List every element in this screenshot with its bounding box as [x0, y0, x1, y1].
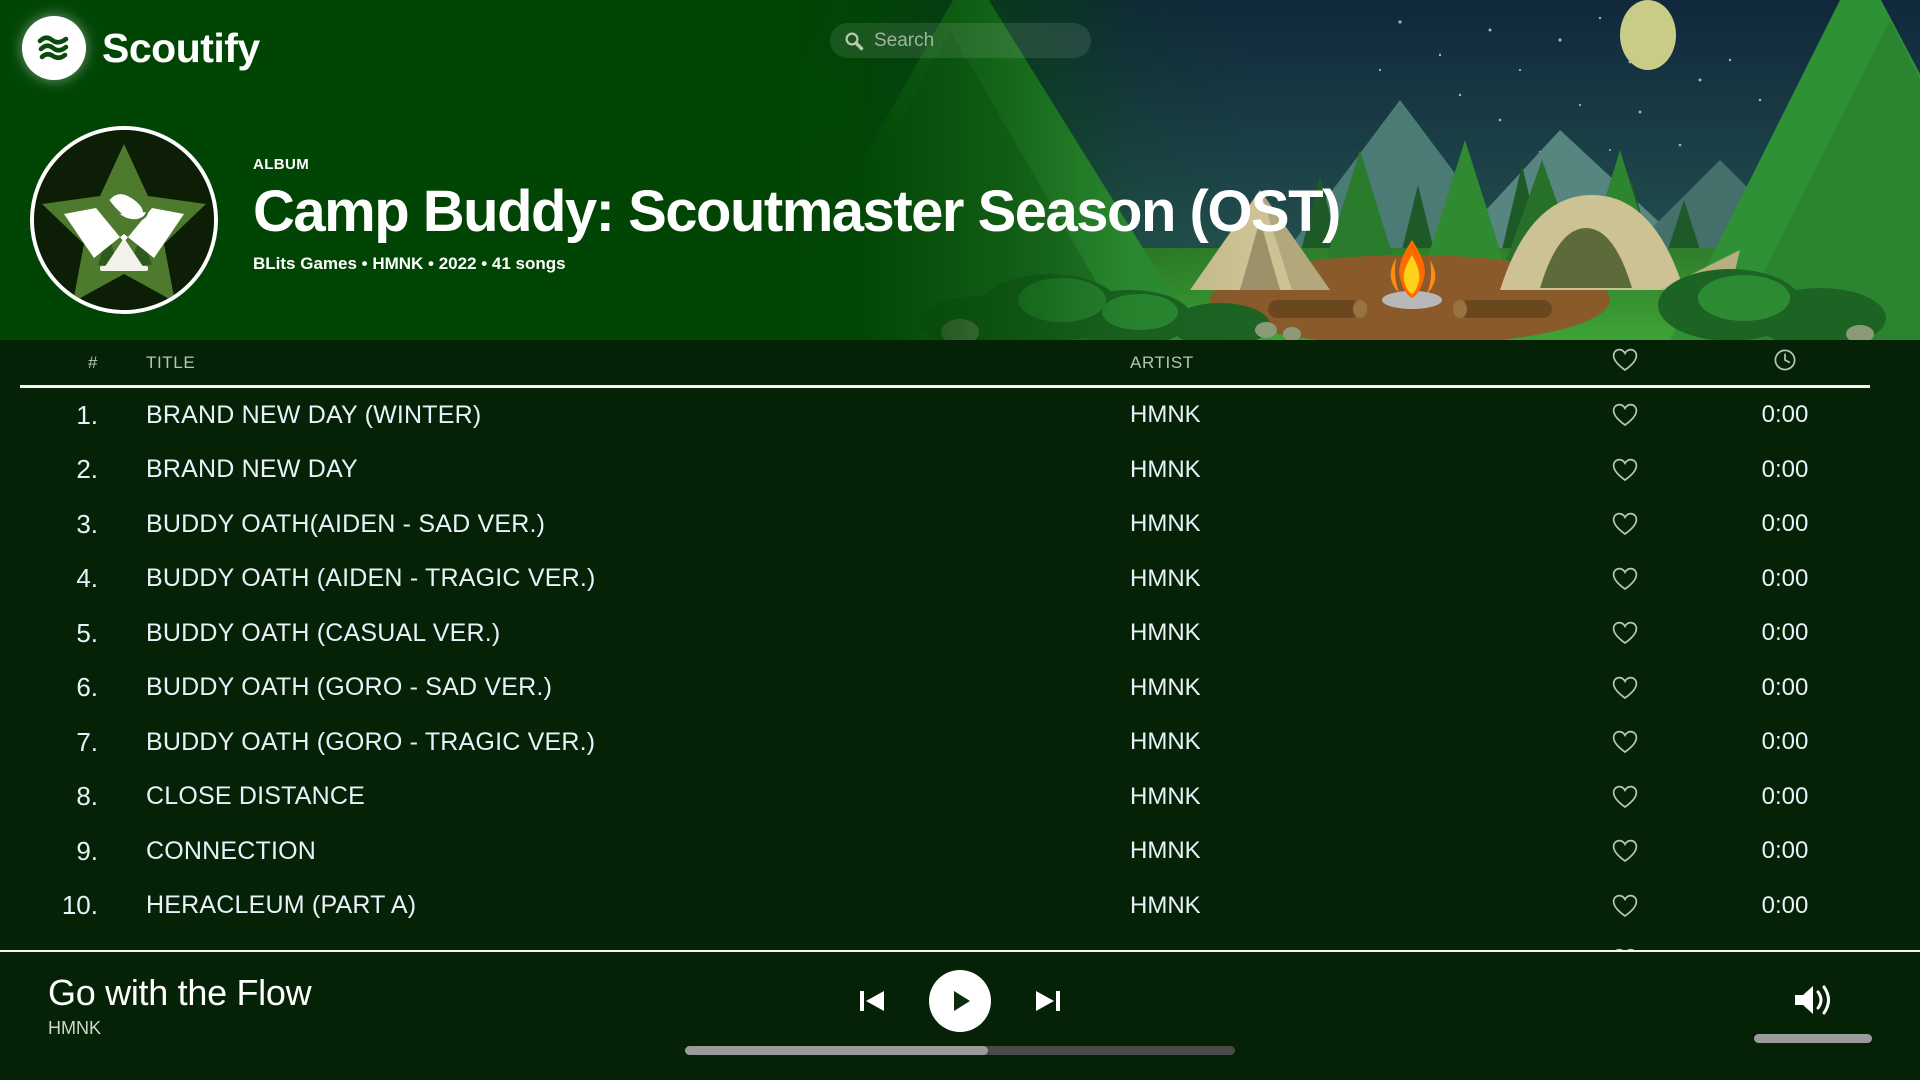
heart-icon[interactable]: [1612, 567, 1638, 591]
album-header: Scoutify: [0, 0, 1920, 340]
table-row[interactable]: 1.BRAND NEW DAY (WINTER)HMNK0:00: [20, 388, 1870, 443]
like-button[interactable]: [1550, 839, 1700, 863]
track-artist[interactable]: HMNK: [1130, 728, 1550, 756]
now-playing-artist: HMNK: [48, 1018, 311, 1039]
scoutify-app: Scoutify: [0, 0, 1920, 1080]
album-title: Camp Buddy: Scoutmaster Season (OST): [253, 181, 1340, 244]
skip-next-icon: [1031, 984, 1065, 1018]
table-row[interactable]: 11.HERACLEUM (PART B)HMNK0:00: [20, 933, 1870, 950]
table-row[interactable]: 6.BUDDY OATH (GORO - SAD VER.)HMNK0:00: [20, 661, 1870, 716]
track-duration: 0:00: [1700, 728, 1870, 756]
header-like: [1550, 348, 1700, 377]
track-duration: 0:00: [1700, 565, 1870, 593]
search-bar[interactable]: [830, 23, 1091, 58]
volume-high-icon[interactable]: [1791, 980, 1835, 1020]
heart-icon[interactable]: [1612, 730, 1638, 754]
previous-button[interactable]: [855, 984, 889, 1018]
skip-previous-icon: [855, 984, 889, 1018]
track-number: 7.: [20, 727, 98, 758]
scout-star-badge-icon: [34, 130, 214, 310]
table-row[interactable]: 2.BRAND NEW DAYHMNK0:00: [20, 443, 1870, 498]
track-artist[interactable]: HMNK: [1130, 401, 1550, 429]
track-number: 4.: [20, 563, 98, 594]
heart-icon[interactable]: [1612, 621, 1638, 645]
track-title[interactable]: BUDDY OATH(AIDEN - SAD VER.): [98, 510, 1130, 539]
volume-slider-fill: [1754, 1034, 1872, 1043]
player-bar: Go with the Flow HMNK: [0, 950, 1920, 1080]
track-title[interactable]: CONNECTION: [98, 837, 1130, 866]
album-text-block: ALBUM Camp Buddy: Scoutmaster Season (OS…: [253, 126, 1340, 274]
track-duration: 0:00: [1700, 837, 1870, 865]
table-row[interactable]: 8.CLOSE DISTANCEHMNK0:00: [20, 770, 1870, 825]
track-artist[interactable]: HMNK: [1130, 837, 1550, 865]
album-type-label: ALBUM: [253, 156, 1340, 173]
table-row[interactable]: 7.BUDDY OATH (GORO - TRAGIC VER.)HMNK0:0…: [20, 715, 1870, 770]
table-row[interactable]: 5.BUDDY OATH (CASUAL VER.)HMNK0:00: [20, 606, 1870, 661]
track-artist[interactable]: HMNK: [1130, 510, 1550, 538]
track-number: 8.: [20, 781, 98, 812]
track-title[interactable]: BUDDY OATH (CASUAL VER.): [98, 619, 1130, 648]
track-number: 6.: [20, 672, 98, 703]
heart-icon[interactable]: [1612, 458, 1638, 482]
track-duration: 0:00: [1700, 892, 1870, 920]
brand-name-label: Scoutify: [102, 25, 260, 72]
track-title[interactable]: BRAND NEW DAY: [98, 455, 1130, 484]
play-icon: [945, 986, 975, 1016]
track-artist[interactable]: HMNK: [1130, 565, 1550, 593]
track-artist[interactable]: HMNK: [1130, 456, 1550, 484]
track-number: 1.: [20, 400, 98, 431]
track-duration: 0:00: [1700, 674, 1870, 702]
progress-bar-fill: [685, 1046, 988, 1055]
track-list-header: # TITLE ARTIST: [20, 340, 1870, 388]
header-duration: [1700, 348, 1870, 377]
track-title[interactable]: CLOSE DISTANCE: [98, 782, 1130, 811]
track-number: 9.: [20, 836, 98, 867]
track-artist[interactable]: HMNK: [1130, 619, 1550, 647]
track-duration: 0:00: [1700, 456, 1870, 484]
header-title: TITLE: [98, 353, 1130, 373]
search-input[interactable]: [874, 30, 1074, 52]
track-artist[interactable]: HMNK: [1130, 674, 1550, 702]
play-button[interactable]: [929, 970, 991, 1032]
like-button[interactable]: [1550, 676, 1700, 700]
like-button[interactable]: [1550, 567, 1700, 591]
volume-control[interactable]: [1754, 980, 1872, 1043]
album-info-block: ALBUM Camp Buddy: Scoutmaster Season (OS…: [0, 126, 1340, 314]
clock-icon: [1773, 348, 1797, 372]
track-title[interactable]: BUDDY OATH (GORO - SAD VER.): [98, 673, 1130, 702]
like-button[interactable]: [1550, 458, 1700, 482]
track-duration: 0:00: [1700, 510, 1870, 538]
heart-icon[interactable]: [1612, 894, 1638, 918]
track-title[interactable]: BUDDY OATH (GORO - TRAGIC VER.): [98, 728, 1130, 757]
next-button[interactable]: [1031, 984, 1065, 1018]
track-rows-container: 1.BRAND NEW DAY (WINTER)HMNK0:002.BRAND …: [0, 388, 1920, 950]
like-button[interactable]: [1550, 894, 1700, 918]
header-artist: ARTIST: [1130, 353, 1550, 373]
playback-controls: [855, 970, 1065, 1032]
search-icon: [844, 31, 864, 51]
track-artist[interactable]: HMNK: [1130, 783, 1550, 811]
heart-icon: [1612, 348, 1638, 372]
like-button[interactable]: [1550, 621, 1700, 645]
track-duration: 0:00: [1700, 783, 1870, 811]
like-button[interactable]: [1550, 403, 1700, 427]
track-title[interactable]: HERACLEUM (PART A): [98, 891, 1130, 920]
now-playing-info: Go with the Flow HMNK: [48, 972, 311, 1039]
table-row[interactable]: 3.BUDDY OATH(AIDEN - SAD VER.)HMNK0:00: [20, 497, 1870, 552]
sound-waves-icon: [30, 24, 78, 72]
header-number: #: [20, 353, 98, 373]
table-row[interactable]: 9.CONNECTIONHMNK0:00: [20, 824, 1870, 879]
track-number: 2.: [20, 454, 98, 485]
track-artist[interactable]: HMNK: [1130, 892, 1550, 920]
track-list[interactable]: # TITLE ARTIST 1.BRAND NEW DAY (WINTER)H…: [0, 340, 1920, 950]
track-number: 3.: [20, 509, 98, 540]
album-cover-art[interactable]: [30, 126, 218, 314]
table-row[interactable]: 4.BUDDY OATH (AIDEN - TRAGIC VER.)HMNK0:…: [20, 552, 1870, 607]
table-row[interactable]: 10.HERACLEUM (PART A)HMNK0:00: [20, 879, 1870, 934]
progress-bar[interactable]: [685, 1046, 1235, 1055]
scoutify-logo-icon: [22, 16, 86, 80]
now-playing-title: Go with the Flow: [48, 972, 311, 1014]
volume-slider[interactable]: [1754, 1034, 1872, 1043]
like-button[interactable]: [1550, 512, 1700, 536]
heart-icon[interactable]: [1612, 785, 1638, 809]
track-title[interactable]: BRAND NEW DAY (WINTER): [98, 401, 1130, 430]
track-duration: 0:00: [1700, 401, 1870, 429]
heart-icon[interactable]: [1612, 676, 1638, 700]
track-title[interactable]: BUDDY OATH (AIDEN - TRAGIC VER.): [98, 564, 1130, 593]
heart-icon[interactable]: [1612, 839, 1638, 863]
brand-logo-group[interactable]: Scoutify: [22, 16, 260, 80]
top-navigation-bar: Scoutify: [0, 0, 1920, 96]
track-number: 5.: [20, 618, 98, 649]
like-button[interactable]: [1550, 785, 1700, 809]
heart-icon[interactable]: [1612, 512, 1638, 536]
track-duration: 0:00: [1700, 619, 1870, 647]
like-button[interactable]: [1550, 730, 1700, 754]
heart-icon[interactable]: [1612, 403, 1638, 427]
album-subtitle: BLits Games • HMNK • 2022 • 41 songs: [253, 254, 1340, 274]
track-number: 10.: [20, 890, 98, 921]
